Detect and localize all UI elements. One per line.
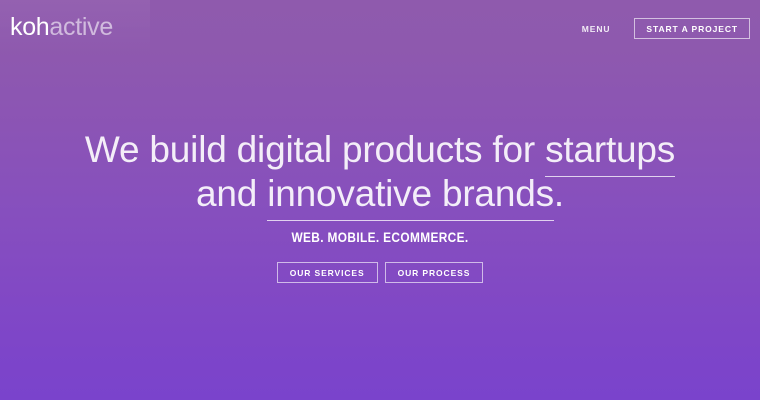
site-logo[interactable]: kohactive [10, 14, 113, 40]
site-header: kohactive MENU START A PROJECT [0, 0, 760, 56]
hero-subhead: WEB. MOBILE. ECOMMERCE. [46, 230, 715, 246]
headline-segment-1: We build digital products for [85, 129, 545, 170]
menu-toggle[interactable]: MENU [580, 20, 613, 38]
headline-underlined-startups: startups [545, 129, 675, 170]
header-actions: MENU START A PROJECT [580, 18, 750, 39]
hero-section: kohactive MENU START A PROJECT We build … [0, 0, 760, 400]
headline-segment-2: and [196, 173, 257, 214]
hero-cta-row: OUR SERVICES OUR PROCESS [0, 262, 760, 283]
logo-text-secondary: active [49, 13, 113, 41]
start-a-project-button[interactable]: START A PROJECT [634, 18, 750, 39]
hero-content: We build digital products for startups a… [0, 128, 760, 283]
headline-segment-3: . [554, 173, 564, 214]
hero-headline: We build digital products for startups a… [0, 128, 760, 216]
our-services-button[interactable]: OUR SERVICES [277, 262, 378, 283]
our-process-button[interactable]: OUR PROCESS [385, 262, 484, 283]
headline-underlined-innovative-brands: innovative brands [267, 173, 554, 214]
logo-text-primary: koh [10, 13, 49, 41]
